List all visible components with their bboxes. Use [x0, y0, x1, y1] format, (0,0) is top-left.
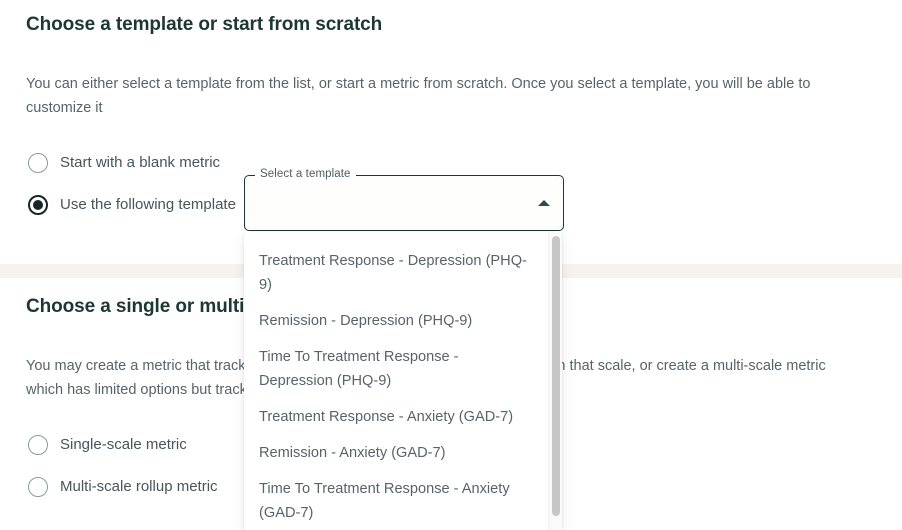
radio-icon-unchecked[interactable]	[28, 477, 48, 497]
dropdown-option[interactable]: Time To Treatment Response - Anxiety (GA…	[244, 471, 548, 530]
dropdown-scrollbar-thumb[interactable]	[552, 236, 560, 516]
radio-label-use-template: Use the following template	[60, 195, 236, 215]
dropdown-option[interactable]: Remission - Anxiety (GAD-7)	[244, 435, 548, 471]
template-select-legend: Select a template	[255, 167, 356, 181]
radio-icon-unchecked[interactable]	[28, 435, 48, 455]
template-dropdown-panel[interactable]: Treatment Response - Depression (PHQ-9) …	[244, 232, 562, 530]
dropdown-option[interactable]: Treatment Response - Anxiety (GAD-7)	[244, 399, 548, 435]
radio-icon-unchecked[interactable]	[28, 153, 48, 173]
caret-up-icon[interactable]	[538, 200, 550, 206]
page-title: Choose a template or start from scratch	[26, 0, 876, 38]
dropdown-option[interactable]: Treatment Response - Depression (PHQ-9)	[244, 243, 548, 303]
dropdown-option[interactable]: Remission - Depression (PHQ-9)	[244, 303, 548, 339]
template-select[interactable]: Select a template	[244, 175, 564, 231]
radio-label-single-scale: Single-scale metric	[60, 435, 187, 455]
radio-label-blank-metric: Start with a blank metric	[60, 153, 220, 173]
radio-label-multi-scale: Multi-scale rollup metric	[60, 477, 218, 497]
dropdown-option[interactable]: Time To Treatment Response - Depression …	[244, 339, 548, 399]
dropdown-scrollbar[interactable]	[548, 232, 562, 530]
radio-icon-checked[interactable]	[28, 195, 48, 215]
template-dropdown-list: Treatment Response - Depression (PHQ-9) …	[244, 232, 548, 530]
template-choice-description: You can either select a template from th…	[26, 38, 838, 120]
page-root: Choose a template or start from scratch …	[0, 0, 902, 530]
template-select-box[interactable]	[244, 175, 564, 231]
